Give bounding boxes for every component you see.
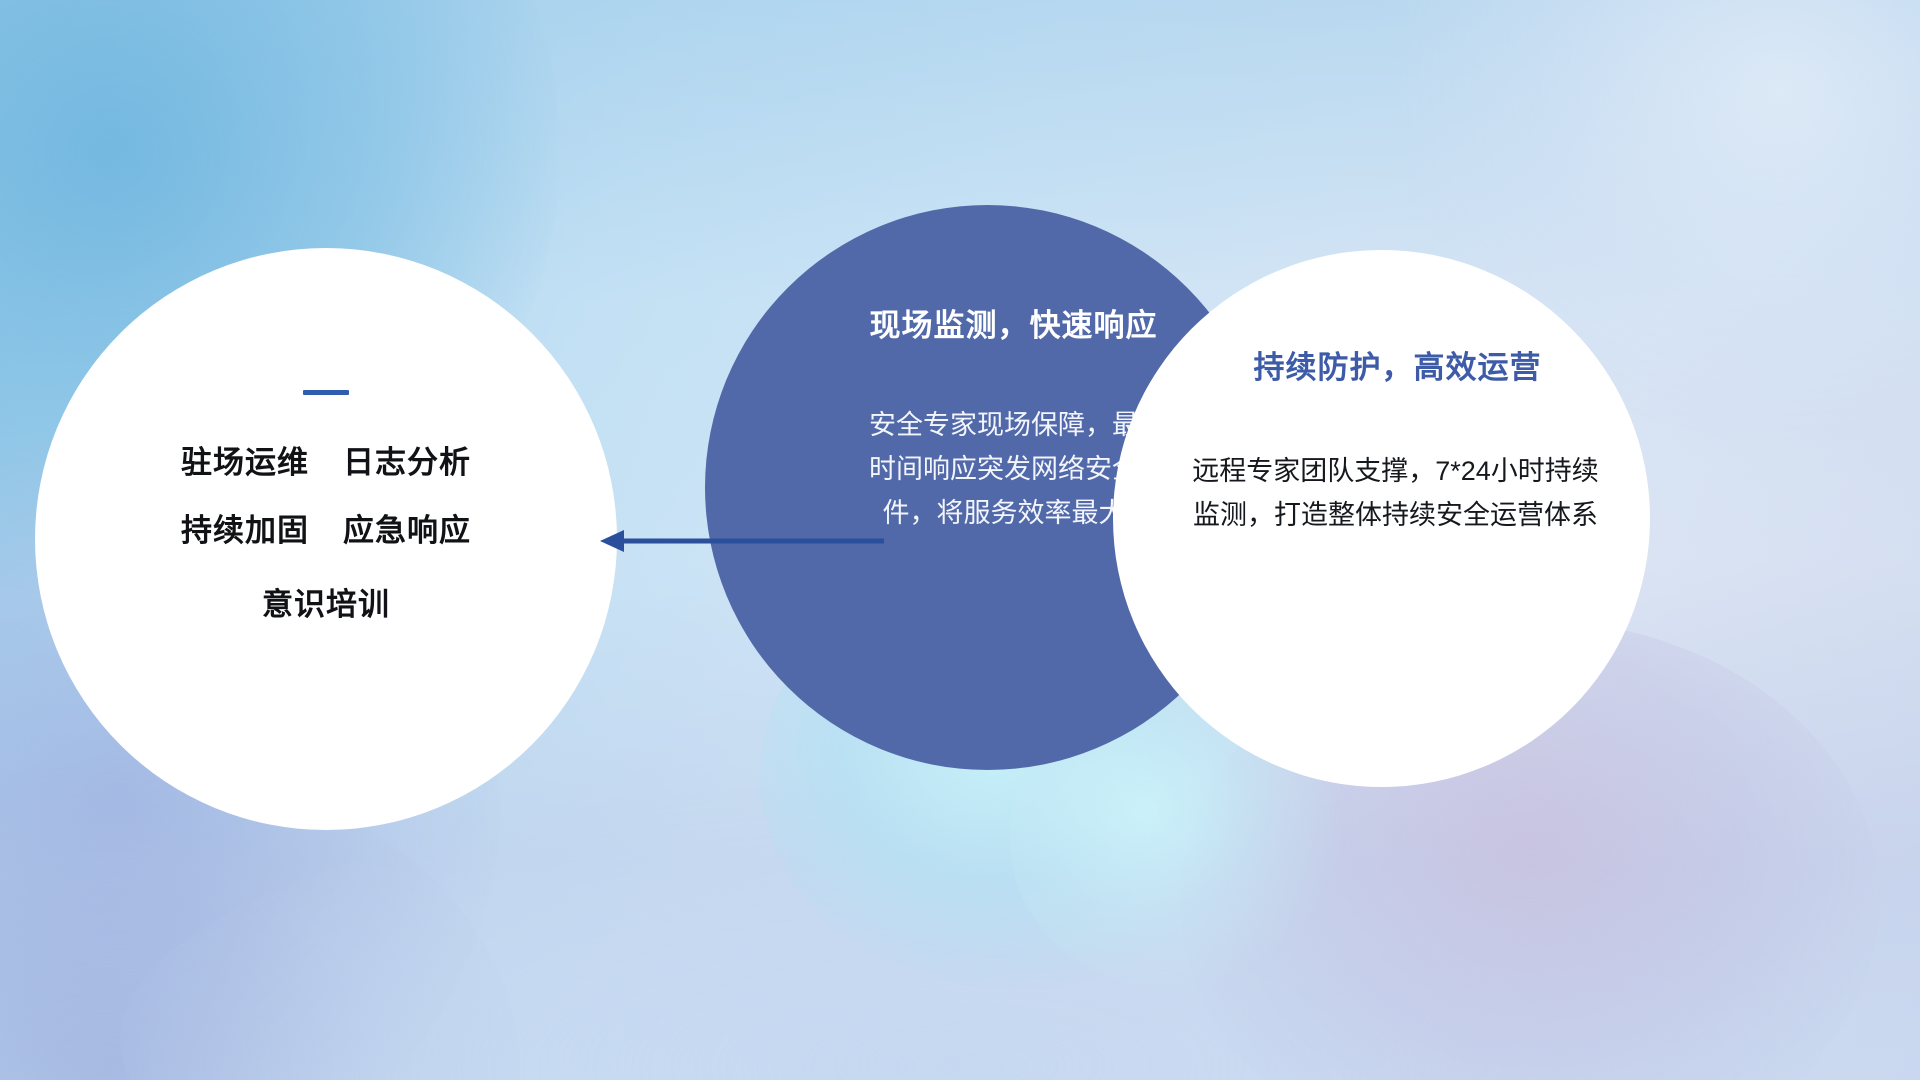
capability-tag: 驻场运维 [181, 447, 309, 478]
capabilities-row: 驻场运维 日志分析 [181, 447, 471, 478]
continuous-body-text: 远程专家团队支撑，7*24小时持续监测，打造整体持续安全运营体系 [1186, 449, 1606, 537]
capabilities-list: 驻场运维 日志分析 持续加固 应急响应 意识培训 [181, 447, 471, 620]
capability-tag: 应急响应 [343, 515, 471, 546]
capability-tag: 日志分析 [343, 447, 471, 478]
continuous-title: 持续防护，高效运营 [1254, 342, 1542, 387]
capabilities-row: 持续加固 应急响应 [181, 515, 471, 546]
capabilities-content: 驻场运维 日志分析 持续加固 应急响应 意识培训 [35, 248, 617, 830]
capabilities-circle: 驻场运维 日志分析 持续加固 应急响应 意识培训 [35, 248, 617, 830]
horizontal-rule-icon [303, 390, 349, 395]
capabilities-row: 意识培训 [262, 589, 390, 620]
capability-tag: 意识培训 [262, 589, 390, 620]
slide-canvas: 驻场运维 日志分析 持续加固 应急响应 意识培训 现场监测，快速响应 安全专家现… [0, 0, 1920, 1080]
continuous-protection-circle: 持续防护，高效运营 远程专家团队支撑，7*24小时持续监测，打造整体持续安全运营… [1113, 250, 1650, 787]
capability-tag: 持续加固 [181, 515, 309, 546]
continuous-content: 持续防护，高效运营 远程专家团队支撑，7*24小时持续监测，打造整体持续安全运营… [1113, 250, 1650, 787]
arrow-left-icon [596, 519, 886, 563]
